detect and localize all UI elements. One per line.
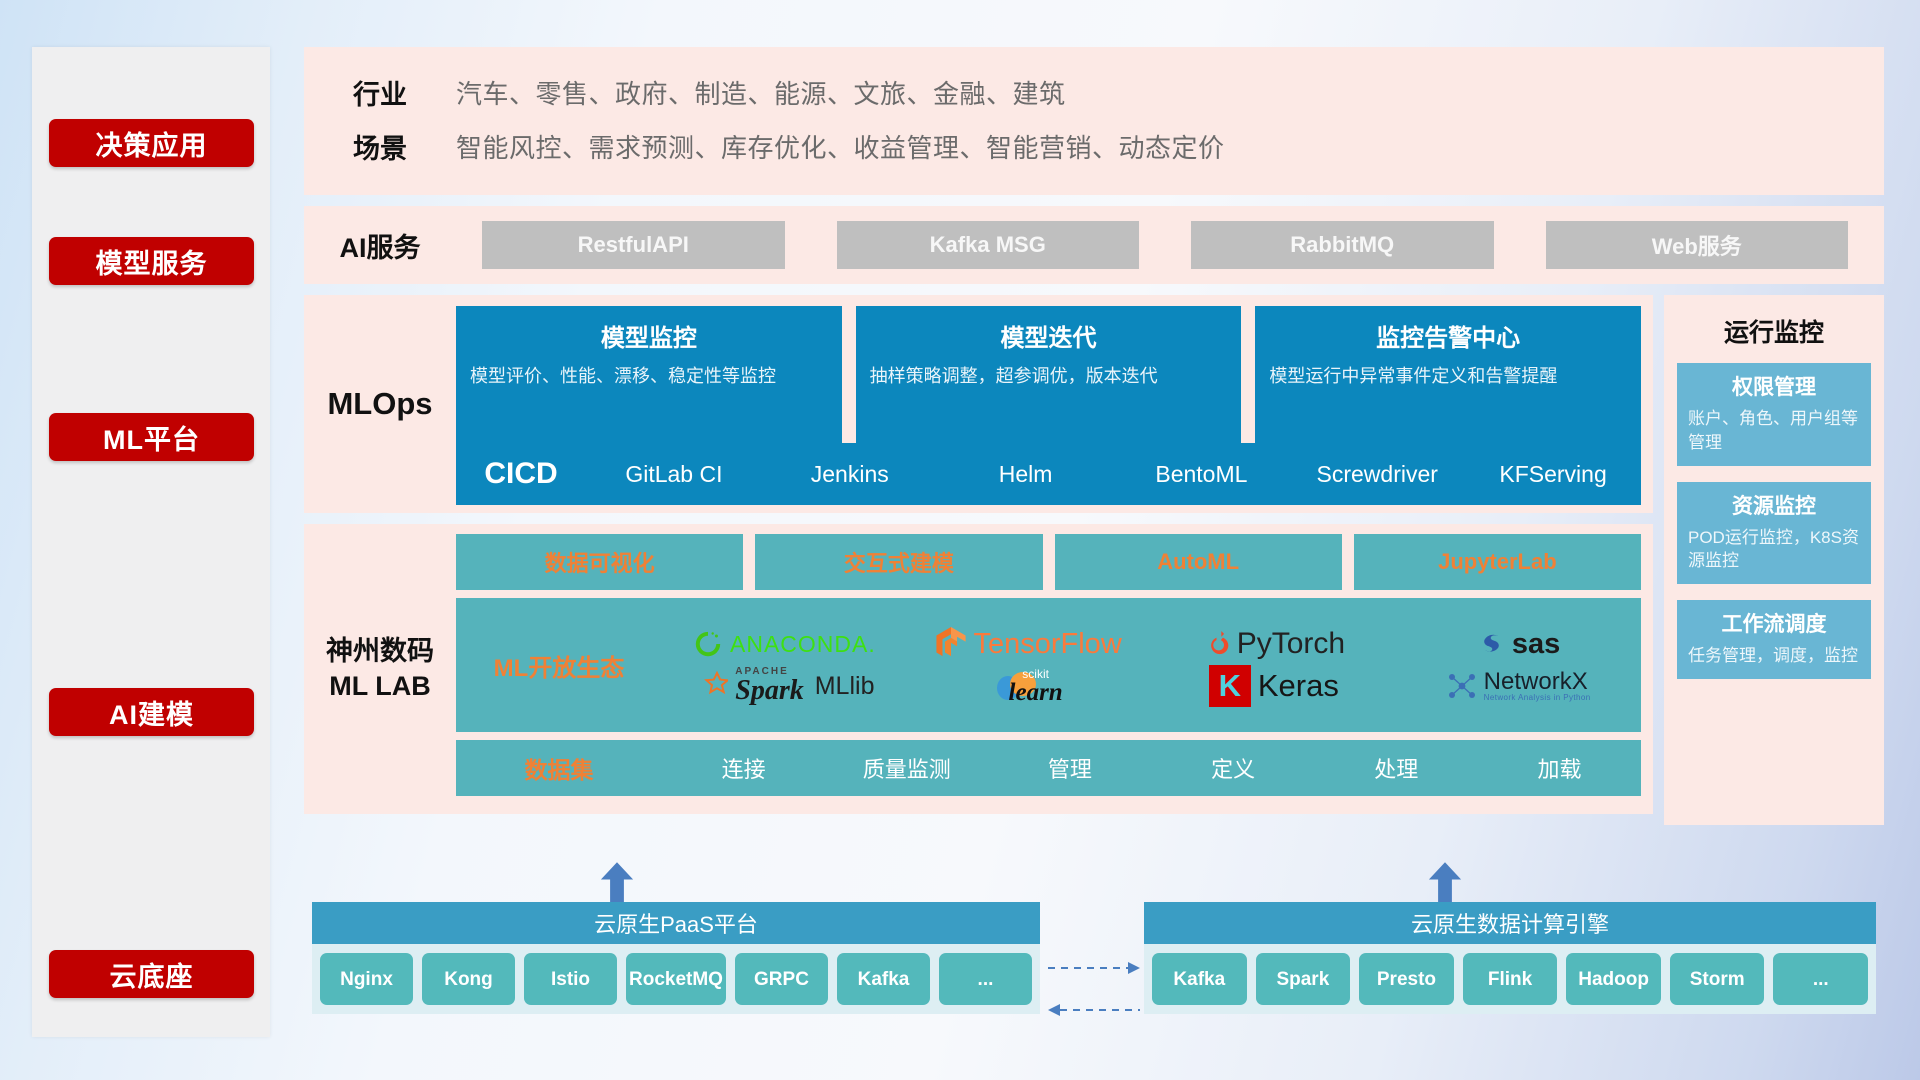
cicd-item-bentoml[interactable]: BentoML bbox=[1113, 443, 1289, 505]
ml-lab-label-line2: ML LAB bbox=[329, 669, 431, 704]
ecosystem-logo-grid: ANACONDA. TensorFlow bbox=[662, 623, 1641, 707]
data-chip-flink[interactable]: Flink bbox=[1463, 953, 1558, 1005]
dataset-label: 数据集 bbox=[456, 751, 662, 785]
keras-badge-icon: K bbox=[1209, 665, 1251, 707]
mlops-card-title: 模型监控 bbox=[470, 318, 828, 353]
mlops-card-title: 模型迭代 bbox=[870, 318, 1228, 353]
ai-service-chip-rabbitmq[interactable]: RabbitMQ bbox=[1191, 221, 1494, 269]
cloud-chip-more[interactable]: ... bbox=[939, 953, 1032, 1005]
spark-wordmark: Spark bbox=[735, 677, 803, 705]
runtime-monitoring-title: 运行监控 bbox=[1677, 313, 1871, 349]
mllib-wordmark: MLlib bbox=[815, 672, 875, 701]
rail-item-model-service[interactable]: 模型服务 bbox=[49, 237, 254, 285]
rail-item-decision-app[interactable]: 决策应用 bbox=[49, 119, 254, 167]
tensorflow-mark-icon bbox=[936, 627, 966, 661]
ml-open-ecosystem-row: ML开放生态 ANACONDA. bbox=[456, 598, 1641, 732]
data-chip-kafka[interactable]: Kafka bbox=[1152, 953, 1247, 1005]
networkx-wordmark: NetworkX bbox=[1484, 669, 1588, 694]
dataset-item-definition[interactable]: 定义 bbox=[1152, 752, 1315, 784]
ai-service-chip-kafka-msg[interactable]: Kafka MSG bbox=[837, 221, 1140, 269]
dataset-item-connect[interactable]: 连接 bbox=[662, 752, 825, 784]
cloud-chip-kong[interactable]: Kong bbox=[422, 953, 515, 1005]
cloud-data-engine-title: 云原生数据计算引擎 bbox=[1144, 902, 1876, 944]
ml-lab-body: 数据可视化 交互式建模 AutoML JupyterLab ML开放生态 bbox=[456, 534, 1653, 804]
platform-and-monitoring: MLOps 模型监控 模型评价、性能、漂移、稳定性等监控 模型迭代 抽样策略调整… bbox=[304, 295, 1884, 825]
spark-star-icon bbox=[694, 671, 728, 701]
industry-list: 汽车、零售、政府、制造、能源、文旅、金融、建筑 bbox=[456, 74, 1066, 111]
cloud-chip-rocketmq[interactable]: RocketMQ bbox=[626, 953, 726, 1005]
ai-service-band: AI服务 RestfulAPI Kafka MSG RabbitMQ Web服务 bbox=[304, 206, 1884, 284]
tool-chip-jupyterlab[interactable]: JupyterLab bbox=[1354, 534, 1641, 590]
rail-item-cloud-base[interactable]: 云底座 bbox=[49, 950, 254, 998]
data-chip-more[interactable]: ... bbox=[1773, 953, 1868, 1005]
scenario-list: 智能风控、需求预测、库存优化、收益管理、智能营销、动态定价 bbox=[456, 128, 1225, 165]
mlops-label: MLOps bbox=[304, 306, 456, 502]
monitoring-card-title: 资源监控 bbox=[1688, 490, 1860, 520]
scikit-word: scikit bbox=[1022, 668, 1049, 680]
keras-logo: K Keras bbox=[1152, 665, 1397, 707]
anaconda-mark-icon bbox=[693, 629, 723, 659]
data-chip-hadoop[interactable]: Hadoop bbox=[1566, 953, 1661, 1005]
monitoring-card-title: 工作流调度 bbox=[1688, 608, 1860, 638]
ml-open-ecosystem-label: ML开放生态 bbox=[456, 648, 662, 683]
up-arrow-icon bbox=[1422, 860, 1468, 906]
cicd-item-jenkins[interactable]: Jenkins bbox=[762, 443, 938, 505]
data-chip-presto[interactable]: Presto bbox=[1359, 953, 1454, 1005]
rail-item-ml-platform[interactable]: ML平台 bbox=[49, 413, 254, 461]
keras-wordmark: Keras bbox=[1258, 668, 1339, 704]
industry-label: 行业 bbox=[304, 73, 456, 112]
cloud-paas-chip-list: Nginx Kong Istio RocketMQ GRPC Kafka ... bbox=[312, 944, 1040, 1014]
industry-row: 行业 汽车、零售、政府、制造、能源、文旅、金融、建筑 bbox=[304, 65, 1884, 119]
data-chip-storm[interactable]: Storm bbox=[1670, 953, 1765, 1005]
networkx-logo: NetworkX Network Analysis in Python bbox=[1396, 665, 1641, 707]
cloud-chip-kafka[interactable]: Kafka bbox=[837, 953, 930, 1005]
networkx-tagline: Network Analysis in Python bbox=[1484, 694, 1591, 702]
ml-lab-label: 神州数码 ML LAB bbox=[304, 534, 456, 804]
anaconda-wordmark: ANACONDA. bbox=[730, 631, 876, 658]
right-dashed-connector-icon bbox=[1048, 960, 1140, 976]
data-chip-spark[interactable]: Spark bbox=[1256, 953, 1351, 1005]
monitoring-card-desc: 任务管理，调度，监控 bbox=[1688, 644, 1860, 668]
left-rail: 决策应用 模型服务 ML平台 AI建模 云底座 bbox=[32, 47, 270, 1037]
tool-chip-automl[interactable]: AutoML bbox=[1055, 534, 1342, 590]
spark-mllib-logo: APACHE Spark MLlib bbox=[662, 665, 907, 707]
scikit-learn-logo: scikit learn bbox=[907, 665, 1152, 707]
rail-item-label: 决策应用 bbox=[96, 124, 208, 163]
industry-scenario-band: 行业 汽车、零售、政府、制造、能源、文旅、金融、建筑 场景 智能风控、需求预测、… bbox=[304, 47, 1884, 195]
mlops-card-desc: 模型运行中异常事件定义和告警提醒 bbox=[1269, 363, 1627, 389]
cicd-item-kfserving[interactable]: KFServing bbox=[1465, 443, 1641, 505]
cicd-item-screwdriver[interactable]: Screwdriver bbox=[1289, 443, 1465, 505]
ai-service-label: AI服务 bbox=[304, 226, 456, 265]
cloud-paas-block: 云原生PaaS平台 Nginx Kong Istio RocketMQ GRPC… bbox=[312, 902, 1040, 1014]
rail-item-ai-modeling[interactable]: AI建模 bbox=[49, 688, 254, 736]
monitoring-card-desc: POD运行监控，K8S资源监控 bbox=[1688, 526, 1860, 574]
anaconda-logo: ANACONDA. bbox=[662, 623, 907, 665]
dataset-item-quality-monitoring[interactable]: 质量监测 bbox=[825, 752, 988, 784]
rail-item-label: AI建模 bbox=[109, 693, 194, 732]
cloud-chip-nginx[interactable]: Nginx bbox=[320, 953, 413, 1005]
pytorch-logo: PyTorch bbox=[1152, 623, 1397, 665]
mlops-card-title: 监控告警中心 bbox=[1269, 318, 1627, 353]
dataset-row: 数据集 连接 质量监测 管理 定义 处理 加载 bbox=[456, 740, 1641, 796]
dataset-item-processing[interactable]: 处理 bbox=[1315, 752, 1478, 784]
cicd-row: CICD GitLab CI Jenkins Helm BentoML Scre… bbox=[456, 443, 1641, 505]
platform-column: MLOps 模型监控 模型评价、性能、漂移、稳定性等监控 模型迭代 抽样策略调整… bbox=[304, 295, 1653, 825]
monitoring-card-desc: 账户、角色、用户组等管理 bbox=[1688, 407, 1860, 455]
pytorch-flame-icon bbox=[1203, 629, 1230, 659]
ml-lab-label-line1: 神州数码 bbox=[326, 634, 434, 669]
cicd-item-gitlab-ci[interactable]: GitLab CI bbox=[586, 443, 762, 505]
learn-word: learn bbox=[1009, 680, 1063, 705]
dataset-item-loading[interactable]: 加载 bbox=[1478, 752, 1641, 784]
mlops-card-desc: 模型评价、性能、漂移、稳定性等监控 bbox=[470, 363, 828, 389]
runtime-monitoring-column: 运行监控 权限管理 账户、角色、用户组等管理 资源监控 POD运行监控，K8S资… bbox=[1664, 295, 1884, 825]
rail-item-label: 模型服务 bbox=[96, 242, 208, 281]
up-arrow-icon bbox=[594, 860, 640, 906]
rail-item-label: 云底座 bbox=[110, 955, 194, 994]
tensorflow-wordmark: TensorFlow bbox=[973, 628, 1121, 661]
tool-chip-interactive-modeling[interactable]: 交互式建模 bbox=[755, 534, 1042, 590]
monitoring-card-workflow[interactable]: 工作流调度 任务管理，调度，监控 bbox=[1677, 600, 1871, 679]
cicd-item-helm[interactable]: Helm bbox=[938, 443, 1114, 505]
dataset-item-management[interactable]: 管理 bbox=[988, 752, 1151, 784]
cloud-paas-title: 云原生PaaS平台 bbox=[312, 902, 1040, 944]
mlops-band: MLOps 模型监控 模型评价、性能、漂移、稳定性等监控 模型迭代 抽样策略调整… bbox=[304, 295, 1653, 513]
mlops-card-desc: 抽样策略调整，超参调优，版本迭代 bbox=[870, 363, 1228, 389]
architecture-stack: 行业 汽车、零售、政府、制造、能源、文旅、金融、建筑 场景 智能风控、需求预测、… bbox=[304, 47, 1884, 825]
sas-logo: sas bbox=[1396, 623, 1641, 665]
sas-swirl-icon bbox=[1477, 630, 1505, 658]
sas-wordmark: sas bbox=[1512, 628, 1560, 661]
monitoring-card-title: 权限管理 bbox=[1688, 371, 1860, 401]
ai-service-chip-restfulapi[interactable]: RestfulAPI bbox=[482, 221, 785, 269]
ai-service-chip-web-service[interactable]: Web服务 bbox=[1546, 221, 1849, 269]
pytorch-wordmark: PyTorch bbox=[1237, 627, 1345, 661]
ai-service-chip-list: RestfulAPI Kafka MSG RabbitMQ Web服务 bbox=[456, 221, 1884, 269]
cloud-data-engine-block: 云原生数据计算引擎 Kafka Spark Presto Flink Hadoo… bbox=[1144, 902, 1876, 1014]
monitoring-card-permission[interactable]: 权限管理 账户、角色、用户组等管理 bbox=[1677, 363, 1871, 466]
ml-tool-chip-list: 数据可视化 交互式建模 AutoML JupyterLab bbox=[456, 534, 1641, 590]
cloud-foundation-zone: 云原生PaaS平台 Nginx Kong Istio RocketMQ GRPC… bbox=[304, 862, 1884, 1037]
left-dashed-connector-icon bbox=[1048, 1002, 1140, 1018]
cloud-chip-grpc[interactable]: GRPC bbox=[735, 953, 828, 1005]
rail-item-label: ML平台 bbox=[103, 418, 200, 457]
ai-modeling-band: 神州数码 ML LAB 数据可视化 交互式建模 AutoML JupyterLa… bbox=[304, 524, 1653, 814]
tensorflow-logo: TensorFlow bbox=[907, 623, 1152, 665]
scenario-label: 场景 bbox=[304, 127, 456, 166]
cloud-data-engine-chip-list: Kafka Spark Presto Flink Hadoop Storm ..… bbox=[1144, 944, 1876, 1014]
tool-chip-data-visualization[interactable]: 数据可视化 bbox=[456, 534, 743, 590]
cicd-title: CICD bbox=[456, 457, 586, 491]
networkx-graph-icon bbox=[1447, 671, 1477, 701]
cloud-chip-istio[interactable]: Istio bbox=[524, 953, 617, 1005]
monitoring-card-resource[interactable]: 资源监控 POD运行监控，K8S资源监控 bbox=[1677, 482, 1871, 585]
scenario-row: 场景 智能风控、需求预测、库存优化、收益管理、智能营销、动态定价 bbox=[304, 119, 1884, 173]
